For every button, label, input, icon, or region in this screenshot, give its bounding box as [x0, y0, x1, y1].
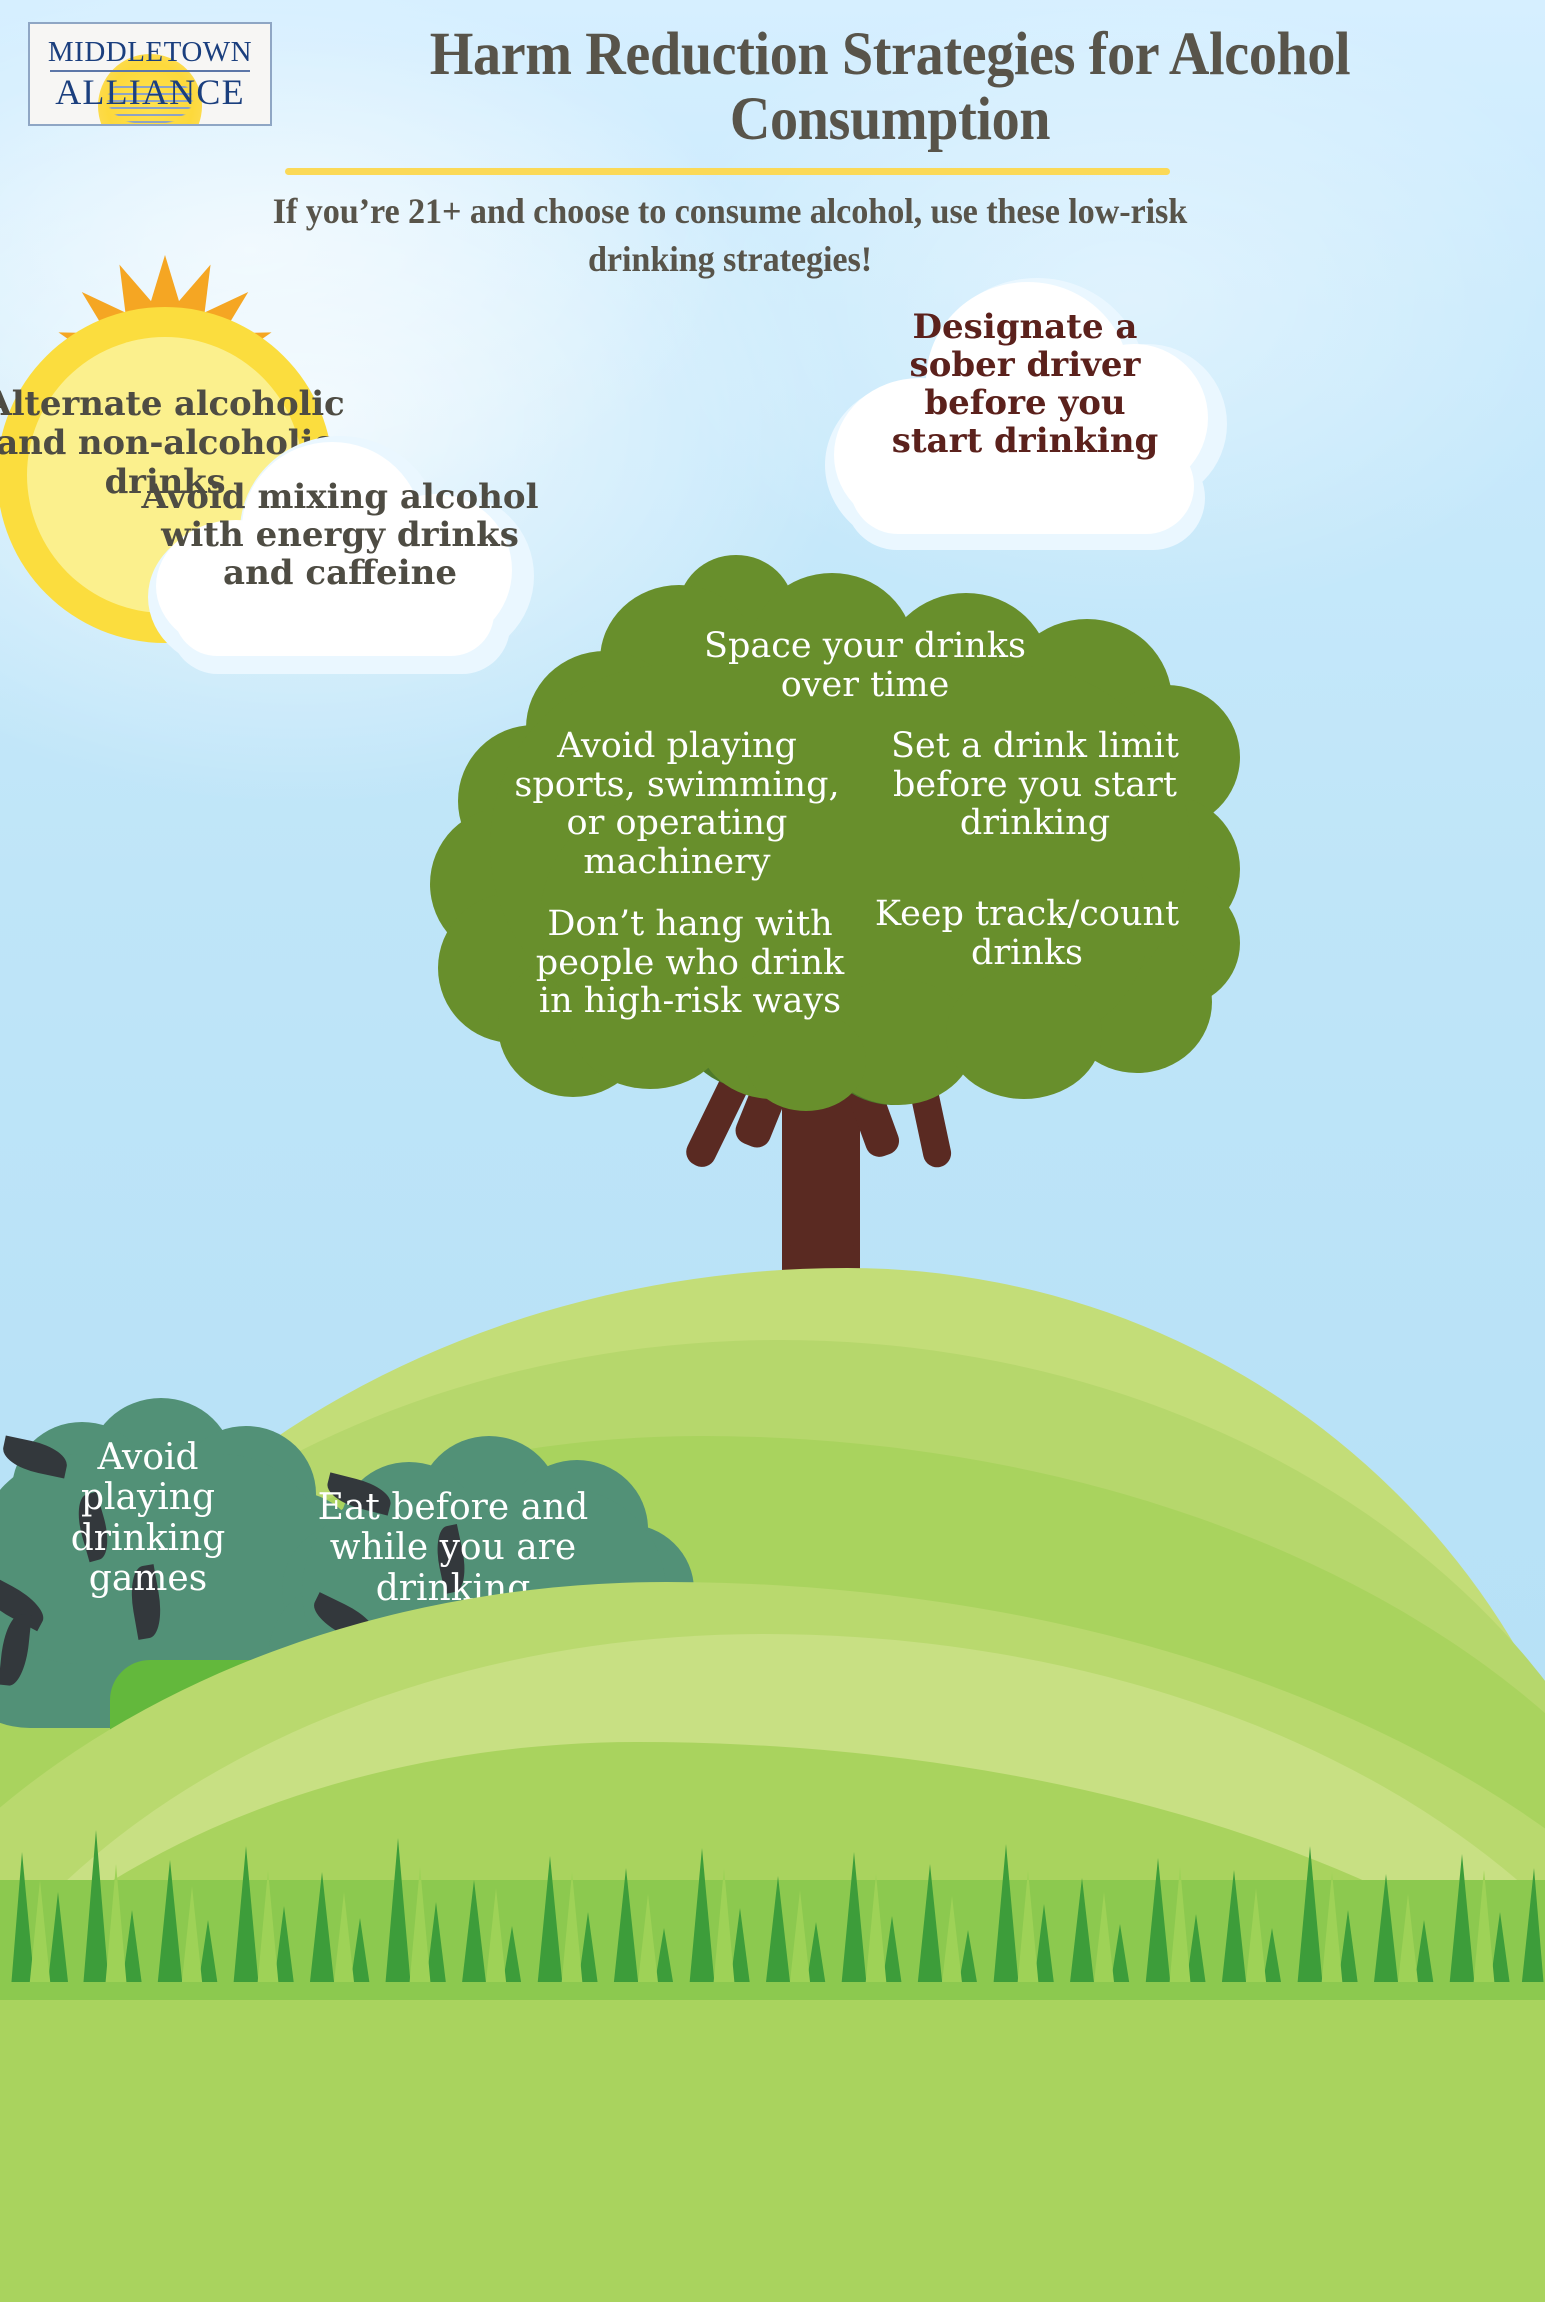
tree-foliage — [946, 969, 1102, 1099]
strategy-avoid-sports: Avoid playing sports, swimming, or opera… — [512, 727, 842, 881]
title-divider — [285, 168, 1170, 175]
logo-line-2: ALLIANCE — [55, 74, 245, 110]
strategy-avoid-high-risk-people: Don’t hang with people who drink in high… — [530, 905, 850, 1021]
infographic-canvas: Alternate alcoholic and non-alcoholic dr… — [0, 0, 1545, 2000]
strategy-space-drinks: Space your drinks over time — [680, 627, 1050, 704]
tree-graphic: Space your drinks over time Avoid playin… — [430, 545, 1240, 1375]
strategy-designate-driver: Designate a sober driver before you star… — [880, 308, 1170, 460]
grass-blades — [0, 1760, 1545, 2000]
strategy-drink-limit: Set a drink limit before you start drink… — [870, 727, 1200, 843]
page-subtitle: If you’re 21+ and choose to consume alco… — [255, 188, 1205, 283]
strategy-avoid-drinking-games: Avoid playing drinking games — [48, 1438, 248, 1599]
strategy-keep-track: Keep track/count drinks — [862, 895, 1192, 972]
logo-line-1: MIDDLETOWN — [48, 38, 252, 67]
tree-foliage — [746, 1011, 866, 1111]
page-title: Harm Reduction Strategies for Alcohol Co… — [338, 22, 1442, 153]
logo[interactable]: MIDDLETOWN ALLIANCE — [28, 22, 272, 126]
